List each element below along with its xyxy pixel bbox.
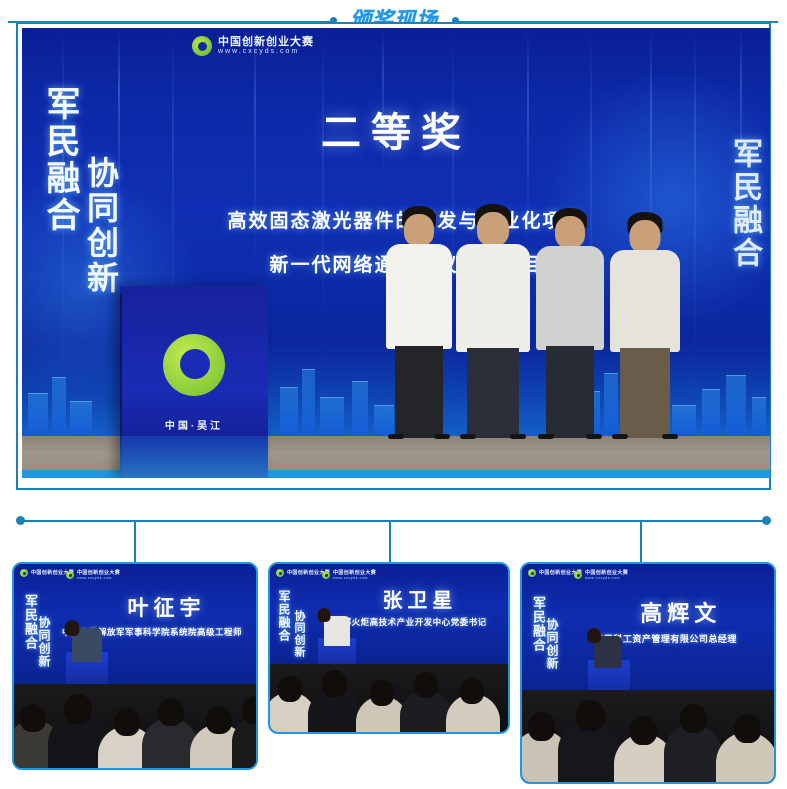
recipient-3 bbox=[534, 208, 606, 436]
award-rank-title: 二等奖 bbox=[22, 100, 770, 158]
thumbnail-logo-center: 中国创新创业大赛 www.cxcyds.com bbox=[322, 570, 376, 580]
recipient-4 bbox=[608, 212, 682, 436]
connector-drop-2 bbox=[389, 521, 391, 565]
ye-zhengyu-thumbnail[interactable]: 中国创新创业大赛 中国创新创业大赛 www.cxcyds.com 军民融合 协同… bbox=[12, 562, 258, 770]
c-logo-icon bbox=[528, 569, 536, 577]
recipient-body bbox=[610, 250, 680, 352]
thumbnail-logo-center: 中国创新创业大赛 www.cxcyds.com bbox=[574, 570, 628, 580]
logo-name-text: 中国创新创业大赛 bbox=[218, 37, 314, 49]
recipient-shoe bbox=[662, 434, 678, 439]
speaker-name: 张卫星 bbox=[341, 584, 498, 613]
audience-crowd bbox=[14, 684, 256, 768]
recipient-head bbox=[630, 220, 661, 253]
recipient-legs bbox=[620, 348, 670, 438]
recipient-1 bbox=[384, 206, 454, 436]
recipient-shoe bbox=[460, 434, 476, 439]
gao-huiwen-thumbnail[interactable]: 中国创新创业大赛 中国创新创业大赛 www.cxcyds.com 军民融合 协同… bbox=[520, 562, 776, 784]
recipient-head bbox=[555, 216, 585, 248]
connector-drop-1 bbox=[134, 521, 136, 565]
podium-skyline-graphic bbox=[120, 436, 268, 478]
logo-url-text: www.cxcyds.com bbox=[218, 48, 314, 55]
podium: 中国·吴江 bbox=[120, 286, 268, 478]
recipient-legs bbox=[546, 346, 594, 438]
recipient-head bbox=[404, 214, 434, 246]
connector-dot-left-icon bbox=[16, 516, 25, 525]
c-logo-icon bbox=[20, 569, 28, 577]
recipient-shoe bbox=[612, 434, 628, 439]
slogan-collaborative-innovation: 协同创新 bbox=[291, 610, 307, 658]
speaker-head bbox=[318, 608, 331, 622]
recipient-shoe bbox=[586, 434, 602, 439]
connector-dot-right-icon bbox=[762, 516, 771, 525]
podium-c-logo-icon bbox=[163, 334, 225, 396]
c-logo-icon bbox=[574, 571, 582, 579]
recipient-legs bbox=[467, 348, 519, 438]
speaker-name: 高辉文 bbox=[598, 596, 764, 628]
logo-url-text: www.cxcyds.com bbox=[585, 576, 628, 580]
connector-drop-3 bbox=[640, 521, 642, 565]
c-logo-icon bbox=[322, 571, 330, 579]
slogan-collaborative-innovation: 协同创新 bbox=[36, 616, 53, 668]
logo-url-text: www.cxcyds.com bbox=[333, 576, 376, 580]
connector-line bbox=[20, 520, 770, 522]
recipient-head bbox=[477, 212, 509, 246]
recipient-body bbox=[456, 244, 530, 352]
audience-crowd bbox=[270, 664, 508, 732]
c-logo-icon bbox=[276, 569, 284, 577]
thumbnail-connector bbox=[0, 505, 787, 565]
recipient-shoe bbox=[434, 434, 450, 439]
podium-city-text: 中国·吴江 bbox=[120, 417, 268, 432]
recipient-body bbox=[386, 244, 452, 349]
zhang-weixing-thumbnail[interactable]: 中国创新创业大赛 中国创新创业大赛 www.cxcyds.com 军民融合 协同… bbox=[268, 562, 510, 734]
speaker-head bbox=[65, 620, 80, 636]
c-logo-icon bbox=[66, 571, 74, 579]
award-ceremony-photo: 中国创新创业大赛 www.cxcyds.com 军民融合 协同创新 军民融合 二… bbox=[22, 28, 770, 478]
recipient-shoe bbox=[538, 434, 554, 439]
slogan-collaborative-innovation: 协同创新 bbox=[544, 618, 561, 670]
recipient-body bbox=[536, 246, 604, 350]
logo-url-text: www.cxcyds.com bbox=[77, 576, 120, 580]
recipient-shoe bbox=[388, 434, 404, 439]
c-logo-icon bbox=[192, 36, 212, 56]
recipient-legs bbox=[395, 346, 443, 438]
thumbnail-logo-center: 中国创新创业大赛 www.cxcyds.com bbox=[66, 570, 120, 580]
speaker-name: 叶征宇 bbox=[87, 592, 247, 622]
recipient-shoe bbox=[510, 434, 526, 439]
audience-crowd bbox=[522, 690, 774, 782]
speaker-head bbox=[587, 628, 601, 643]
recipient-2 bbox=[454, 204, 532, 436]
competition-logo: 中国创新创业大赛 www.cxcyds.com bbox=[192, 36, 314, 56]
